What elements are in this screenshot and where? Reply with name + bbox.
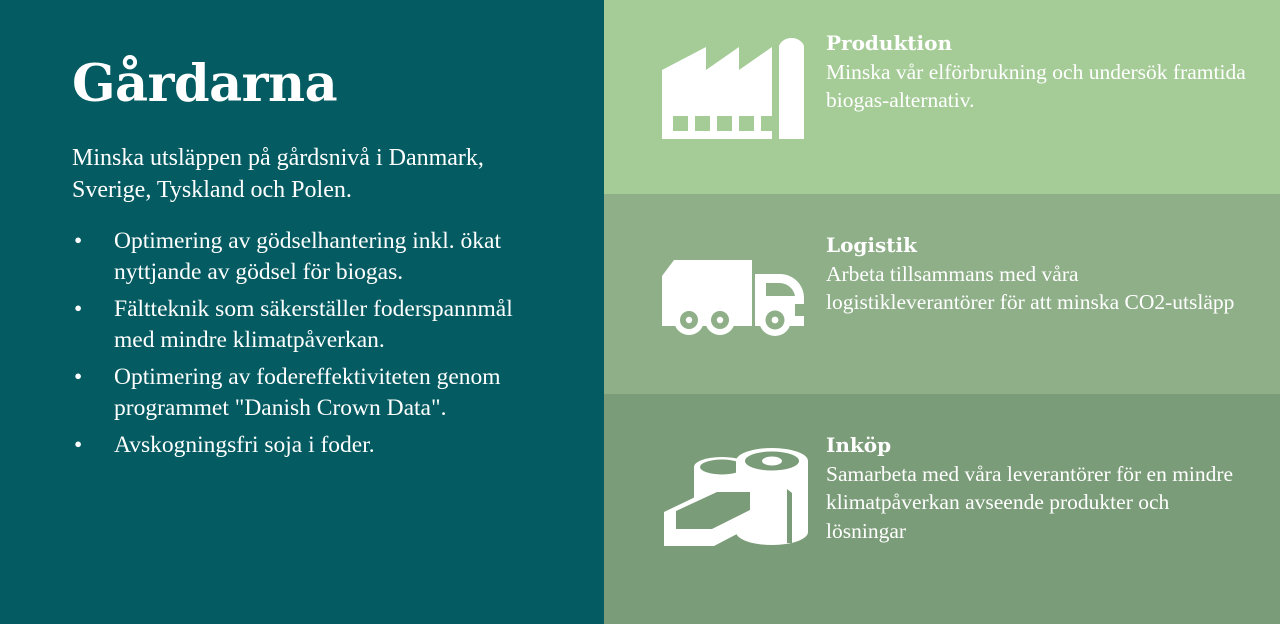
bullet-marker-icon: • [74,362,82,393]
card-heading: Produktion [826,30,1246,56]
card-text-logistik: Logistik Arbeta tillsammans med våra log… [826,232,1246,317]
list-item-text: Optimering av fodereffektiviteten genom … [114,364,501,421]
card-body: Samarbeta med våra leverantörer för en m… [826,460,1246,545]
list-item: • Avskogningsfri soja i foder. [72,430,542,461]
card-logistik: Logistik Arbeta tillsammans med våra log… [604,194,1280,394]
truck-icon [662,254,804,345]
objectives-list: • Optimering av gödselhantering inkl. ök… [72,226,542,467]
list-item: • Optimering av fodereffektiviteten geno… [72,362,542,424]
page-subtitle: Minska utsläppen på gårdsnivå i Danmark,… [72,143,542,207]
card-inkop: Inköp Samarbeta med våra leverantörer fö… [604,394,1280,624]
packaging-rolls-icon [662,444,808,551]
card-body: Minska vår elförbrukning och undersök fr… [826,58,1246,115]
bullet-marker-icon: • [74,226,82,257]
slide-root: Gårdarna Minska utsläppen på gårdsnivå i… [0,0,1280,624]
bullet-marker-icon: • [74,294,82,325]
list-item-text: Optimering av gödselhantering inkl. ökat… [114,228,501,285]
list-item: • Fältteknik som säkerställer foderspann… [72,294,542,356]
page-title: Gårdarna [72,58,337,112]
left-content-inner: Gårdarna Minska utsläppen på gårdsnivå i… [72,0,572,624]
card-produktion: Produktion Minska vår elförbrukning och … [604,0,1280,194]
list-item: • Optimering av gödselhantering inkl. ök… [72,226,542,288]
right-cards-panel: Produktion Minska vår elförbrukning och … [604,0,1280,624]
bullet-marker-icon: • [74,430,82,461]
card-heading: Inköp [826,432,1246,458]
card-text-produktion: Produktion Minska vår elförbrukning och … [826,30,1246,115]
list-item-text: Fältteknik som säkerställer foderspannmå… [114,296,513,353]
card-heading: Logistik [826,232,1246,258]
factory-icon [662,30,804,150]
left-content-panel: Gårdarna Minska utsläppen på gårdsnivå i… [0,0,604,624]
card-text-inkop: Inköp Samarbeta med våra leverantörer fö… [826,432,1246,545]
card-body: Arbeta tillsammans med våra logistikleve… [826,260,1246,317]
list-item-text: Avskogningsfri soja i foder. [114,432,375,458]
